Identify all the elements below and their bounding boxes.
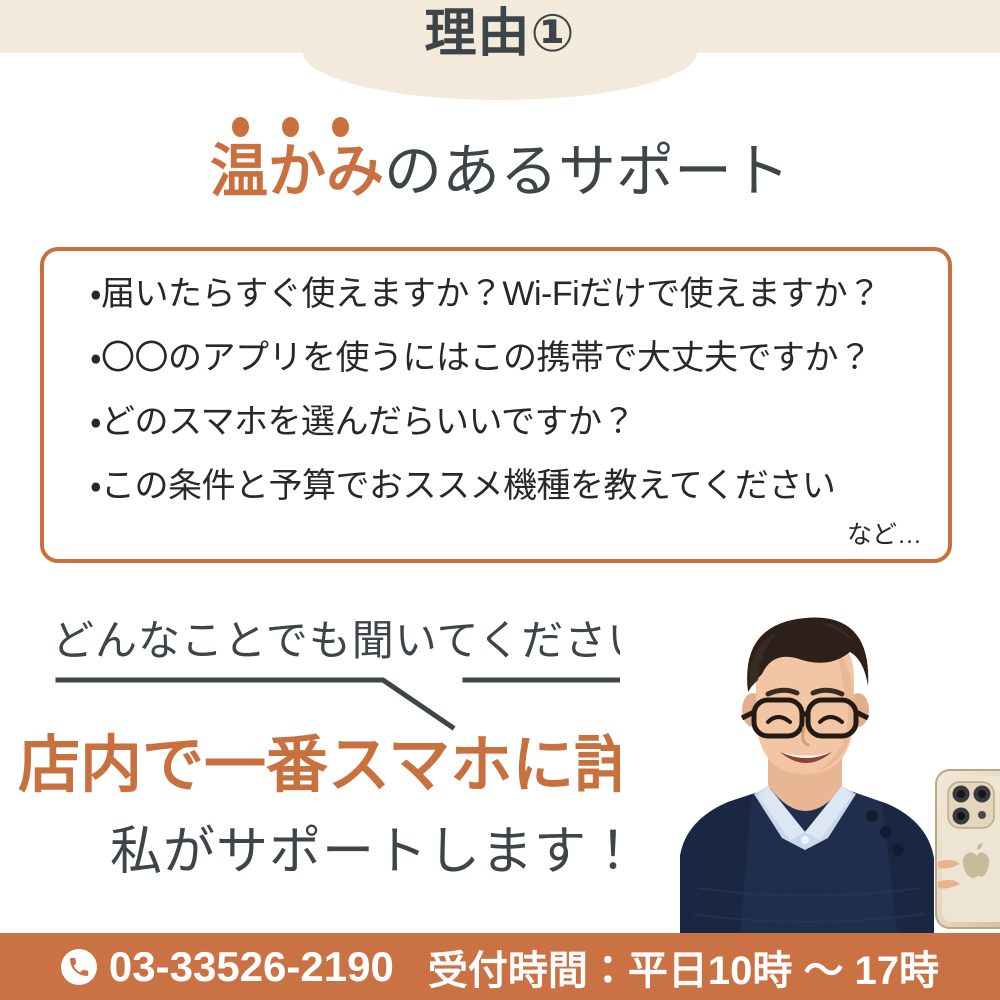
phone-number[interactable]: 03-33526-2190 xyxy=(109,943,394,991)
question-list: ・届いたらすぐ使えますか？Wi-Fiだけで使えますか？ ・〇〇のアプリを使うには… xyxy=(90,277,928,503)
page-title-rest: のあるサポート xyxy=(384,139,790,204)
list-item: ・この条件と予算でおススメ機種を教えてください xyxy=(90,469,928,503)
emphasis-dot xyxy=(332,117,349,137)
list-item: ・どのスマホを選んだらいいですか？ xyxy=(90,405,928,439)
contact-footer-content: 03-33526-2190 受付時間：平日10時 ～ 17時 xyxy=(0,933,1000,1000)
ask-anything-text: どんなことでも聞いてください！ xyxy=(52,607,693,668)
page-title-accent: 温かみ xyxy=(210,139,384,204)
support-statement: 私がサポートします！ xyxy=(110,826,640,878)
list-item: ・〇〇のアプリを使うにはこの携帯で大丈夫ですか？ xyxy=(90,341,928,375)
list-item: ・届いたらすぐ使えますか？Wi-Fiだけで使えますか？ xyxy=(90,277,928,311)
contact-footer: 03-33526-2190 受付時間：平日10時 ～ 17時 xyxy=(0,933,1000,1000)
page-title: 温かみのあるサポート xyxy=(0,140,1000,205)
staff-photo-illustration xyxy=(620,588,1000,938)
emphasis-dots xyxy=(232,117,362,139)
staff-photo xyxy=(620,588,1000,938)
etc-label: など… xyxy=(847,515,922,551)
business-hours: 受付時間：平日10時 ～ 17時 xyxy=(428,938,939,996)
phone-handset-icon xyxy=(61,949,97,985)
reason-badge-label: 理由① xyxy=(0,8,1000,60)
emphasis-dot xyxy=(282,117,299,137)
question-box: ・届いたらすぐ使えますか？Wi-Fiだけで使えますか？ ・〇〇のアプリを使うには… xyxy=(40,247,952,563)
emphasis-dot xyxy=(232,117,249,137)
poster-root: 理由① 温かみのあるサポート ・届いたらすぐ使えますか？Wi-Fiだけで使えます… xyxy=(0,0,1000,1000)
speech-tail-icon xyxy=(40,665,660,735)
